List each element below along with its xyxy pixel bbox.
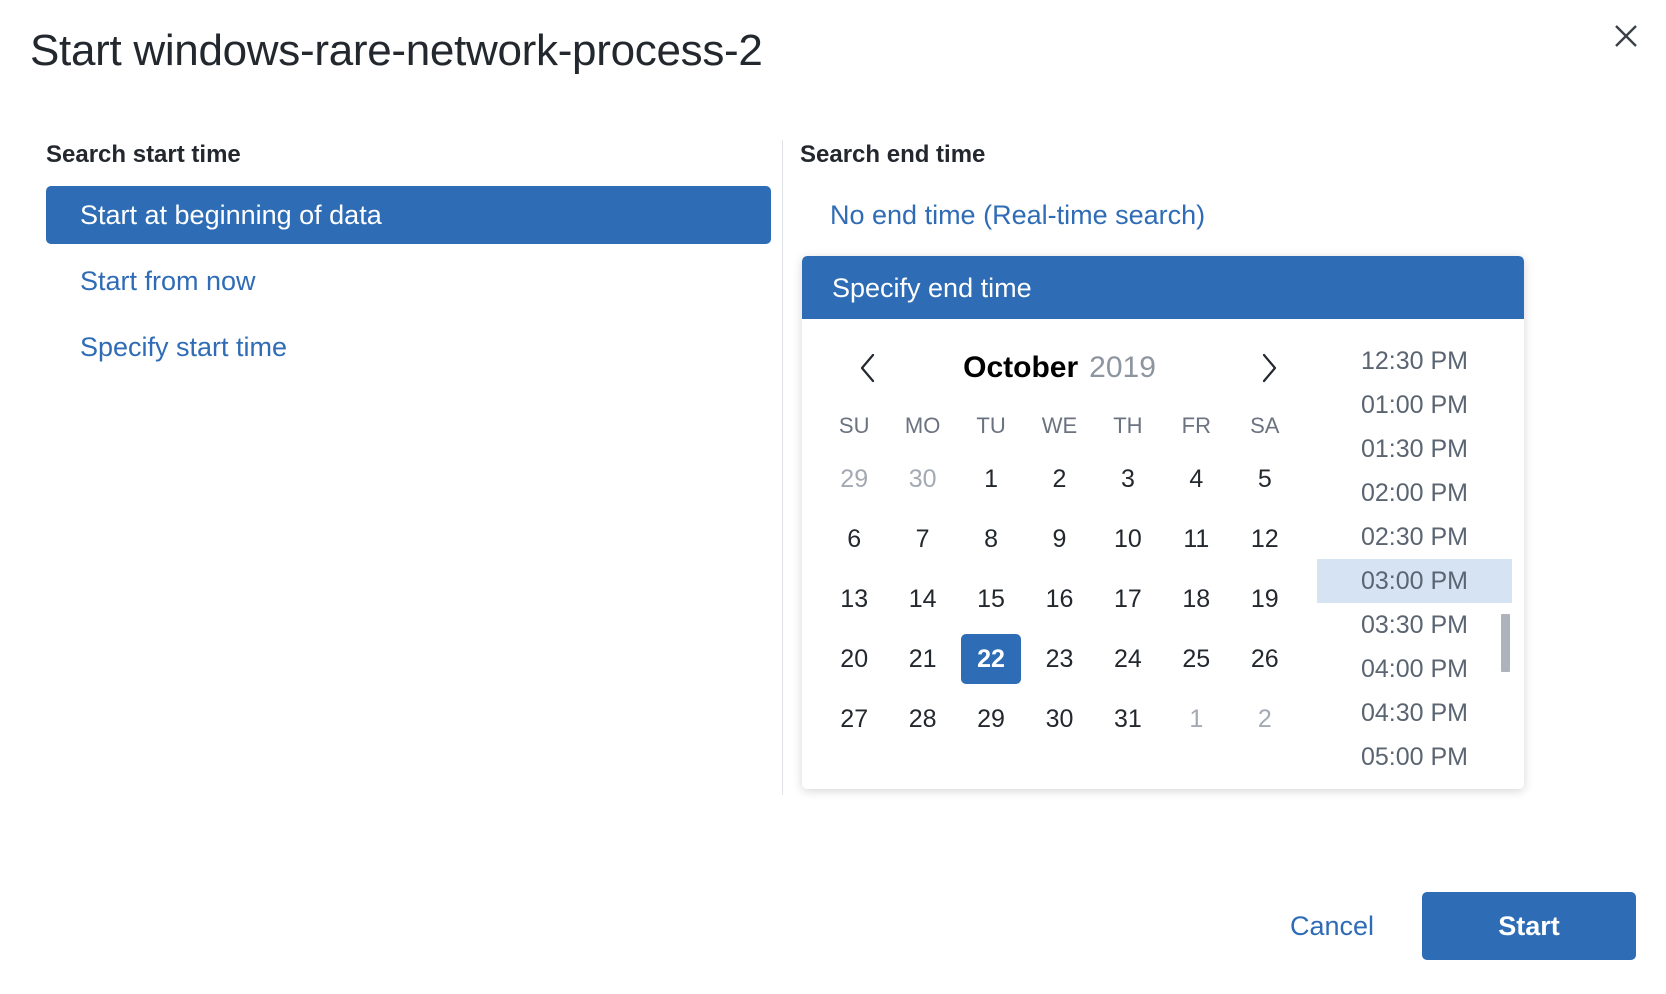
scrollbar-thumb[interactable] — [1501, 614, 1510, 672]
option-label: Specify end time — [832, 273, 1032, 303]
calendar-day-cell: 5 — [1231, 449, 1299, 509]
calendar-day-27[interactable]: 27 — [824, 694, 884, 744]
calendar-day-8[interactable]: 8 — [961, 514, 1021, 564]
calendar-day-cell: 8 — [957, 509, 1025, 569]
option-start-from-now[interactable]: Start from now — [46, 252, 771, 310]
calendar-weekday-header: SU MO TU WE TH FR SA — [820, 403, 1299, 449]
calendar-day-31[interactable]: 31 — [1098, 694, 1158, 744]
calendar-day-23[interactable]: 23 — [1029, 634, 1089, 684]
calendar-day-1[interactable]: 1 — [1166, 694, 1226, 744]
picker-body: October 2019 SU MO TU WE — [802, 319, 1524, 789]
time-option[interactable]: 01:00 PM — [1317, 383, 1512, 427]
calendar-day-28[interactable]: 28 — [893, 694, 953, 744]
calendar-day-cell: 17 — [1094, 569, 1162, 629]
calendar-day-19[interactable]: 19 — [1235, 574, 1295, 624]
time-option[interactable]: 02:00 PM — [1317, 471, 1512, 515]
calendar-day-cell: 19 — [1231, 569, 1299, 629]
calendar-day-3[interactable]: 3 — [1098, 454, 1158, 504]
calendar-day-11[interactable]: 11 — [1166, 514, 1226, 564]
calendar-day-4[interactable]: 4 — [1166, 454, 1226, 504]
weekday-we: WE — [1025, 403, 1093, 449]
calendar-day-26[interactable]: 26 — [1235, 634, 1295, 684]
time-list-items: 12:30 PM01:00 PM01:30 PM02:00 PM02:30 PM… — [1317, 339, 1524, 779]
calendar-week-row: 13141516171819 — [820, 569, 1299, 629]
time-option[interactable]: 01:30 PM — [1317, 427, 1512, 471]
calendar-day-21[interactable]: 21 — [893, 634, 953, 684]
weekday-mo: MO — [888, 403, 956, 449]
calendar-day-13[interactable]: 13 — [824, 574, 884, 624]
calendar-day-12[interactable]: 12 — [1235, 514, 1295, 564]
chevron-left-glyph — [859, 353, 877, 383]
option-label: Start at beginning of data — [80, 200, 382, 230]
calendar-week-row: 293012345 — [820, 449, 1299, 509]
calendar-day-cell: 1 — [957, 449, 1025, 509]
calendar-grid: SU MO TU WE TH FR SA 2930123456789101112… — [820, 403, 1299, 749]
calendar-day-30[interactable]: 30 — [1029, 694, 1089, 744]
calendar-day-cell: 1 — [1162, 689, 1230, 749]
search-start-time-panel: Search start time Start at beginning of … — [46, 140, 771, 384]
end-time-picker: Specify end time October 2019 — [802, 256, 1524, 789]
calendar-day-cell: 10 — [1094, 509, 1162, 569]
weekday-th: TH — [1094, 403, 1162, 449]
dialog-footer: Cancel Start — [1264, 892, 1636, 960]
weekday-sa: SA — [1231, 403, 1299, 449]
start-search-dialog: Start windows-rare-network-process-2 Sea… — [0, 0, 1666, 994]
option-no-end-time[interactable]: No end time (Real-time search) — [800, 186, 1590, 244]
calendar-day-cell: 29 — [957, 689, 1025, 749]
weekday-fr: FR — [1162, 403, 1230, 449]
calendar-day-14[interactable]: 14 — [893, 574, 953, 624]
calendar-day-cell: 4 — [1162, 449, 1230, 509]
calendar-day-29[interactable]: 29 — [824, 454, 884, 504]
calendar-day-cell: 31 — [1094, 689, 1162, 749]
calendar-day-cell: 9 — [1025, 509, 1093, 569]
calendar-day-cell: 25 — [1162, 629, 1230, 689]
chevron-right-glyph — [1260, 353, 1278, 383]
option-label: No end time (Real-time search) — [830, 200, 1205, 230]
chevron-left-icon[interactable] — [848, 348, 888, 388]
calendar-day-cell: 6 — [820, 509, 888, 569]
calendar-day-cell: 14 — [888, 569, 956, 629]
calendar-day-6[interactable]: 6 — [824, 514, 884, 564]
calendar-day-2[interactable]: 2 — [1235, 694, 1295, 744]
search-end-time-heading: Search end time — [800, 140, 1590, 170]
page-title: Start windows-rare-network-process-2 — [30, 26, 763, 76]
calendar-week-row: 20212223242526 — [820, 629, 1299, 689]
time-option[interactable]: 05:00 PM — [1317, 735, 1512, 779]
calendar-day-cell: 24 — [1094, 629, 1162, 689]
start-button[interactable]: Start — [1422, 892, 1636, 960]
calendar-day-cell: 23 — [1025, 629, 1093, 689]
calendar-day-9[interactable]: 9 — [1029, 514, 1089, 564]
calendar-day-17[interactable]: 17 — [1098, 574, 1158, 624]
search-start-time-heading: Search start time — [46, 140, 771, 170]
calendar-nav: October 2019 — [820, 337, 1299, 399]
calendar-day-22[interactable]: 22 — [961, 634, 1021, 684]
calendar-day-cell: 20 — [820, 629, 888, 689]
time-list[interactable]: 12:30 PM01:00 PM01:30 PM02:00 PM02:30 PM… — [1317, 319, 1524, 789]
calendar-day-cell: 13 — [820, 569, 888, 629]
calendar-day-cell: 29 — [820, 449, 888, 509]
calendar-week-row: 6789101112 — [820, 509, 1299, 569]
calendar-month: October — [963, 351, 1078, 385]
calendar-day-cell: 21 — [888, 629, 956, 689]
calendar-day-cell: 28 — [888, 689, 956, 749]
option-start-at-beginning-of-data[interactable]: Start at beginning of data — [46, 186, 771, 244]
calendar-day-25[interactable]: 25 — [1166, 634, 1226, 684]
time-option[interactable]: 03:00 PM — [1317, 559, 1512, 603]
calendar-day-cell: 22 — [957, 629, 1025, 689]
calendar-day-cell: 2 — [1025, 449, 1093, 509]
calendar-day-cell: 11 — [1162, 509, 1230, 569]
time-option[interactable]: 02:30 PM — [1317, 515, 1512, 559]
calendar-week-row: 272829303112 — [820, 689, 1299, 749]
calendar-day-18[interactable]: 18 — [1166, 574, 1226, 624]
calendar-day-15[interactable]: 15 — [961, 574, 1021, 624]
time-option[interactable]: 04:00 PM — [1317, 647, 1512, 691]
calendar-day-5[interactable]: 5 — [1235, 454, 1295, 504]
calendar-day-cell: 18 — [1162, 569, 1230, 629]
calendar-day-cell: 30 — [1025, 689, 1093, 749]
calendar-day-24[interactable]: 24 — [1098, 634, 1158, 684]
calendar-day-cell: 26 — [1231, 629, 1299, 689]
calendar-day-7[interactable]: 7 — [893, 514, 953, 564]
calendar-day-cell: 12 — [1231, 509, 1299, 569]
time-option[interactable]: 04:30 PM — [1317, 691, 1512, 735]
cancel-button[interactable]: Cancel — [1264, 897, 1400, 956]
calendar-day-20[interactable]: 20 — [824, 634, 884, 684]
calendar-day-cell: 7 — [888, 509, 956, 569]
option-specify-end-time[interactable]: Specify end time — [802, 256, 1524, 320]
search-end-time-panel: Search end time No end time (Real-time s… — [800, 140, 1590, 244]
weekday-tu: TU — [957, 403, 1025, 449]
calendar-day-cell: 27 — [820, 689, 888, 749]
close-icon[interactable] — [1604, 14, 1648, 58]
calendar-day-cell: 2 — [1231, 689, 1299, 749]
calendar-day-29[interactable]: 29 — [961, 694, 1021, 744]
time-list-scrollbar[interactable] — [1501, 319, 1510, 789]
calendar-weeks: 2930123456789101112131415161718192021222… — [820, 449, 1299, 749]
panel-divider — [782, 140, 783, 795]
chevron-right-icon[interactable] — [1249, 348, 1289, 388]
weekday-su: SU — [820, 403, 888, 449]
calendar-day-cell: 15 — [957, 569, 1025, 629]
calendar-day-1[interactable]: 1 — [961, 454, 1021, 504]
option-specify-start-time[interactable]: Specify start time — [46, 318, 771, 376]
calendar-day-cell: 16 — [1025, 569, 1093, 629]
calendar-day-cell: 30 — [888, 449, 956, 509]
calendar-day-10[interactable]: 10 — [1098, 514, 1158, 564]
calendar-day-cell: 3 — [1094, 449, 1162, 509]
time-option[interactable]: 12:30 PM — [1317, 339, 1512, 383]
calendar-day-16[interactable]: 16 — [1029, 574, 1089, 624]
close-glyph — [1613, 23, 1639, 49]
calendar-day-30[interactable]: 30 — [893, 454, 953, 504]
option-label: Specify start time — [80, 332, 287, 362]
calendar: October 2019 SU MO TU WE — [802, 319, 1317, 789]
calendar-day-2[interactable]: 2 — [1029, 454, 1089, 504]
time-option[interactable]: 03:30 PM — [1317, 603, 1512, 647]
option-label: Start from now — [80, 266, 256, 296]
calendar-year: 2019 — [1089, 351, 1156, 385]
